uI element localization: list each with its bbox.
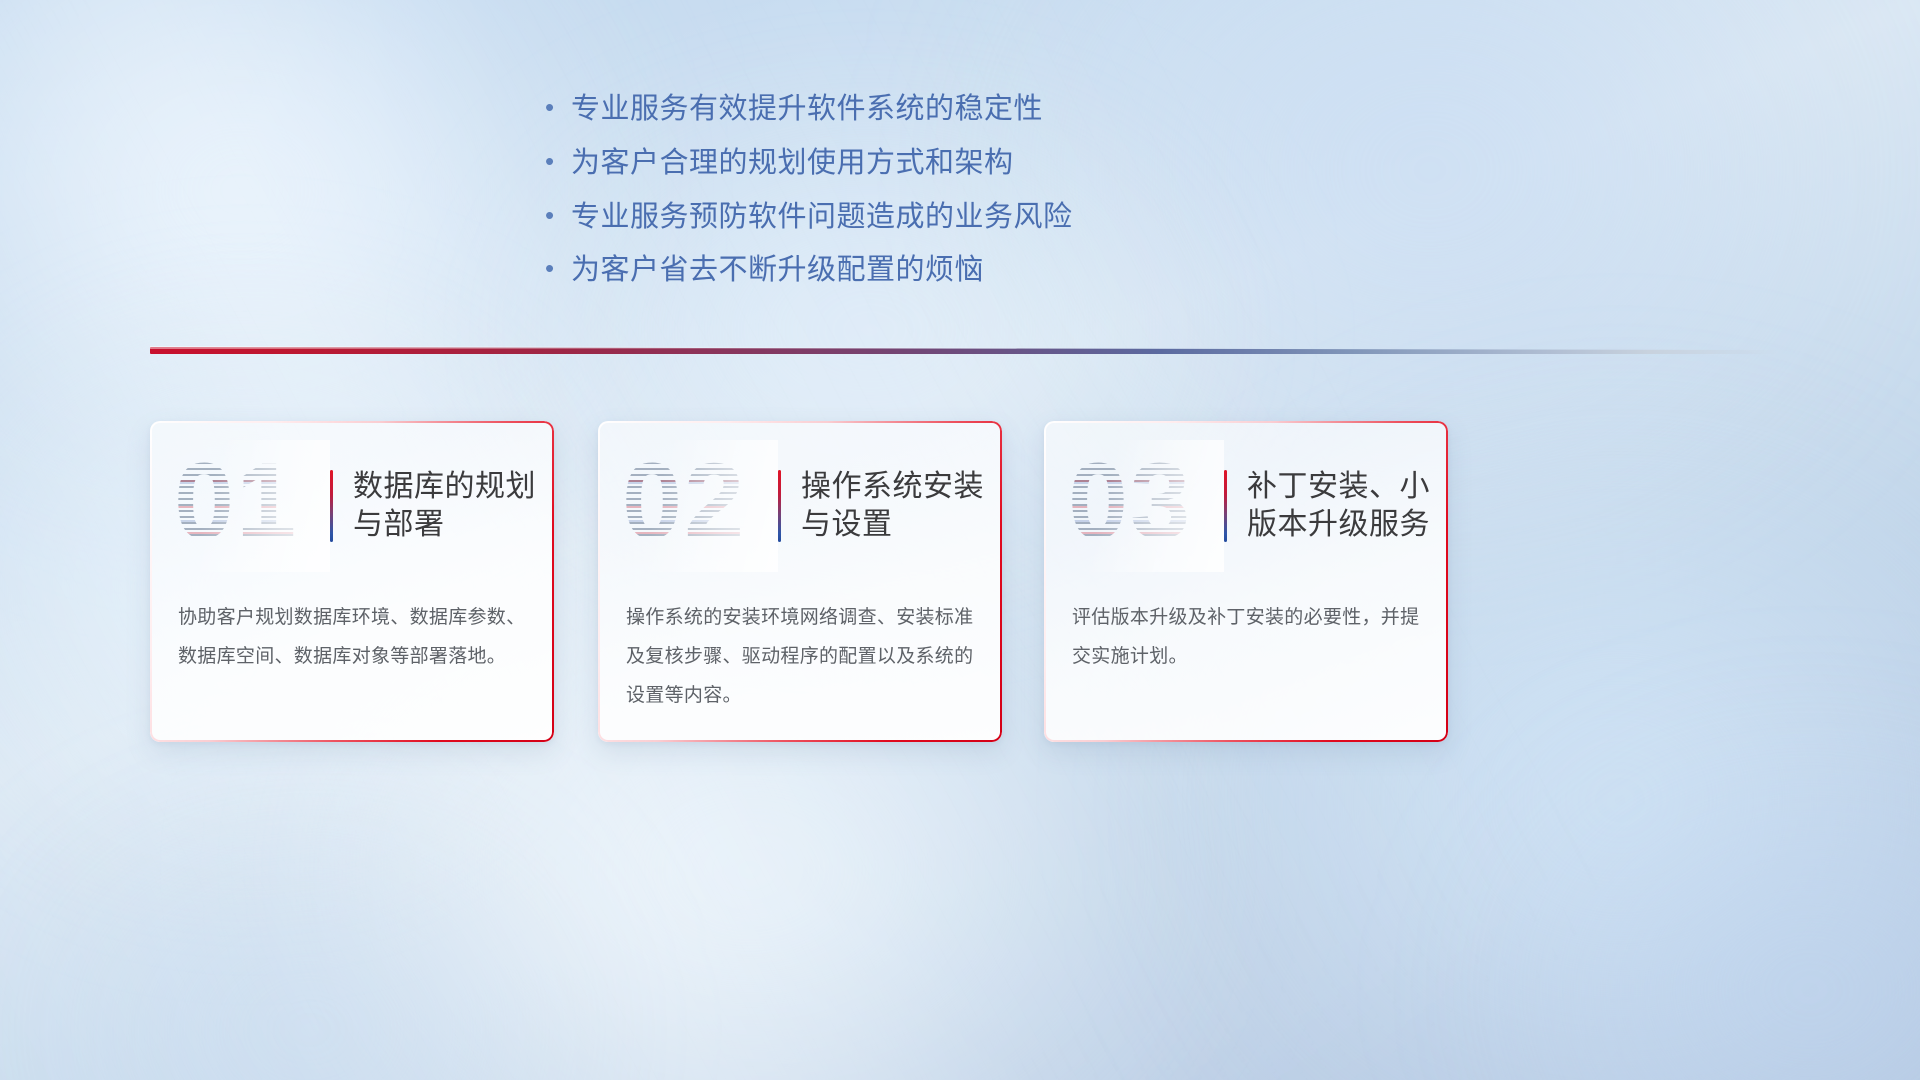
bullet-item: • 为客户合理的规划使用方式和架构 [545, 146, 1245, 181]
bullet-text: 专业服务有效提升软件系统的稳定性 [571, 92, 1043, 127]
card-number-blue-tint: 01 [174, 442, 324, 560]
card-title-divider [330, 470, 333, 542]
card-number-blue-tint: 03 [1068, 442, 1218, 560]
card-number-watermark: 02 02 02 [622, 446, 772, 566]
card-number-blue-tint: 02 [622, 442, 772, 560]
service-card-row: 01 01 01 数据库的规划与部署 协助客户规划数据库环境、数据库参数、数据库… [150, 421, 1450, 746]
card-header: 03 03 03 补丁安装、小版本升级服务 [1044, 421, 1448, 591]
card-title: 操作系统安装与设置 [801, 468, 1002, 545]
benefits-bullet-list: • 专业服务有效提升软件系统的稳定性 • 为客户合理的规划使用方式和架构 • 专… [545, 92, 1245, 307]
card-title-divider [1224, 470, 1227, 542]
bullet-dot-icon: • [545, 94, 571, 120]
section-divider [150, 345, 1780, 359]
service-card[interactable]: 03 03 03 补丁安装、小版本升级服务 评估版本升级及补丁安装的必要性，并提… [1044, 421, 1448, 742]
bullet-text: 专业服务预防软件问题造成的业务风险 [571, 200, 1073, 235]
card-title: 数据库的规划与部署 [353, 468, 554, 545]
card-title-divider [778, 470, 781, 542]
card-header: 02 02 02 操作系统安装与设置 [598, 421, 1002, 591]
bullet-item: • 为客户省去不断升级配置的烦恼 [545, 253, 1245, 288]
card-header: 01 01 01 数据库的规划与部署 [150, 421, 554, 591]
bullet-item: • 专业服务有效提升软件系统的稳定性 [545, 92, 1245, 127]
bullet-text: 为客户省去不断升级配置的烦恼 [571, 253, 984, 288]
bullet-text: 为客户合理的规划使用方式和架构 [571, 146, 1014, 181]
bullet-dot-icon: • [545, 202, 571, 228]
card-body-text: 协助客户规划数据库环境、数据库参数、数据库空间、数据库对象等部署落地。 [178, 599, 528, 677]
card-body-text: 评估版本升级及补丁安装的必要性，并提交实施计划。 [1072, 599, 1422, 677]
bullet-dot-icon: • [545, 148, 571, 174]
card-number-watermark: 03 03 03 [1068, 446, 1218, 566]
service-card[interactable]: 02 02 02 操作系统安装与设置 操作系统的安装环境网络调查、安装标准及复核… [598, 421, 1002, 742]
bullet-item: • 专业服务预防软件问题造成的业务风险 [545, 200, 1245, 235]
bullet-dot-icon: • [545, 255, 571, 281]
card-body-text: 操作系统的安装环境网络调查、安装标准及复核步骤、驱动程序的配置以及系统的设置等内… [626, 599, 976, 716]
card-number-watermark: 01 01 01 [174, 446, 324, 566]
divider-highlight [150, 346, 1161, 349]
card-title: 补丁安装、小版本升级服务 [1247, 468, 1448, 545]
service-card[interactable]: 01 01 01 数据库的规划与部署 协助客户规划数据库环境、数据库参数、数据库… [150, 421, 554, 742]
